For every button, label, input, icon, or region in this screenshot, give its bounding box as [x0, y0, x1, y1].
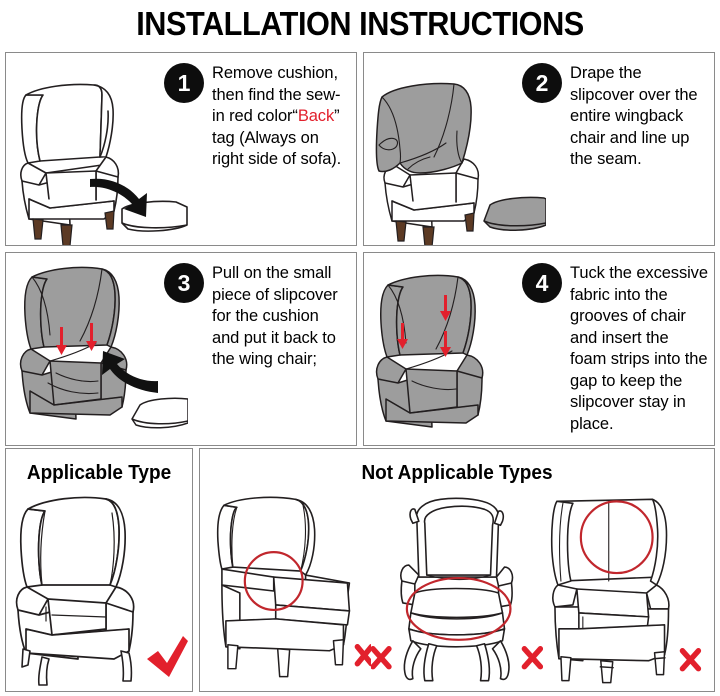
- step-1-text: Remove cushion, then find the sew-in red…: [212, 63, 350, 171]
- applicable-chair-illustration: [6, 489, 192, 689]
- not-applicable-item-1: [200, 489, 371, 689]
- applicable-type-box: Applicable Type: [5, 448, 193, 692]
- step-panel-3: 3 Pull on the small piece of slipcover f…: [5, 252, 357, 446]
- not-applicable-item-3: [543, 489, 714, 689]
- step-3-illustration: [6, 253, 188, 445]
- check-mark: [147, 636, 188, 677]
- step-1-text-highlight: Back: [298, 107, 334, 125]
- cross-mark-right: [525, 649, 541, 667]
- page-title: INSTALLATION INSTRUCTIONS: [25, 0, 695, 48]
- cross-mark-left: [373, 649, 389, 667]
- step-3-number: 3: [164, 263, 204, 303]
- step-2-number: 2: [522, 63, 562, 103]
- step-1-number: 1: [164, 63, 204, 103]
- step-4-text: Tuck the excessive fabric into the groov…: [570, 263, 708, 435]
- steps-grid: 1 Remove cushion, then find the sew-in r…: [5, 52, 715, 442]
- not-applicable-types-heading: Not Applicable Types: [213, 449, 701, 484]
- step-panel-2: 2 Drape the slipcover over the entire wi…: [363, 52, 715, 246]
- step-2-text: Drape the slipcover over the entire wing…: [570, 63, 708, 171]
- step-panel-1: 1 Remove cushion, then find the sew-in r…: [5, 52, 357, 246]
- step-panel-4: 4 Tuck the excessive fabric into the gro…: [363, 252, 715, 446]
- bottom-row: Applicable Type: [5, 448, 715, 692]
- cross-mark: [357, 647, 371, 664]
- cross-mark: [682, 651, 698, 669]
- applicable-type-heading: Applicable Type: [11, 449, 188, 484]
- not-applicable-item-2: [371, 489, 542, 689]
- not-applicable-types-box: Not Applicable Types: [199, 448, 715, 692]
- step-4-number: 4: [522, 263, 562, 303]
- step-4-illustration: [364, 253, 546, 445]
- not-applicable-illustrations: [200, 489, 714, 689]
- step-3-text: Pull on the small piece of slipcover for…: [212, 263, 350, 371]
- step-1-illustration: [6, 53, 188, 245]
- step-2-illustration: [364, 53, 546, 245]
